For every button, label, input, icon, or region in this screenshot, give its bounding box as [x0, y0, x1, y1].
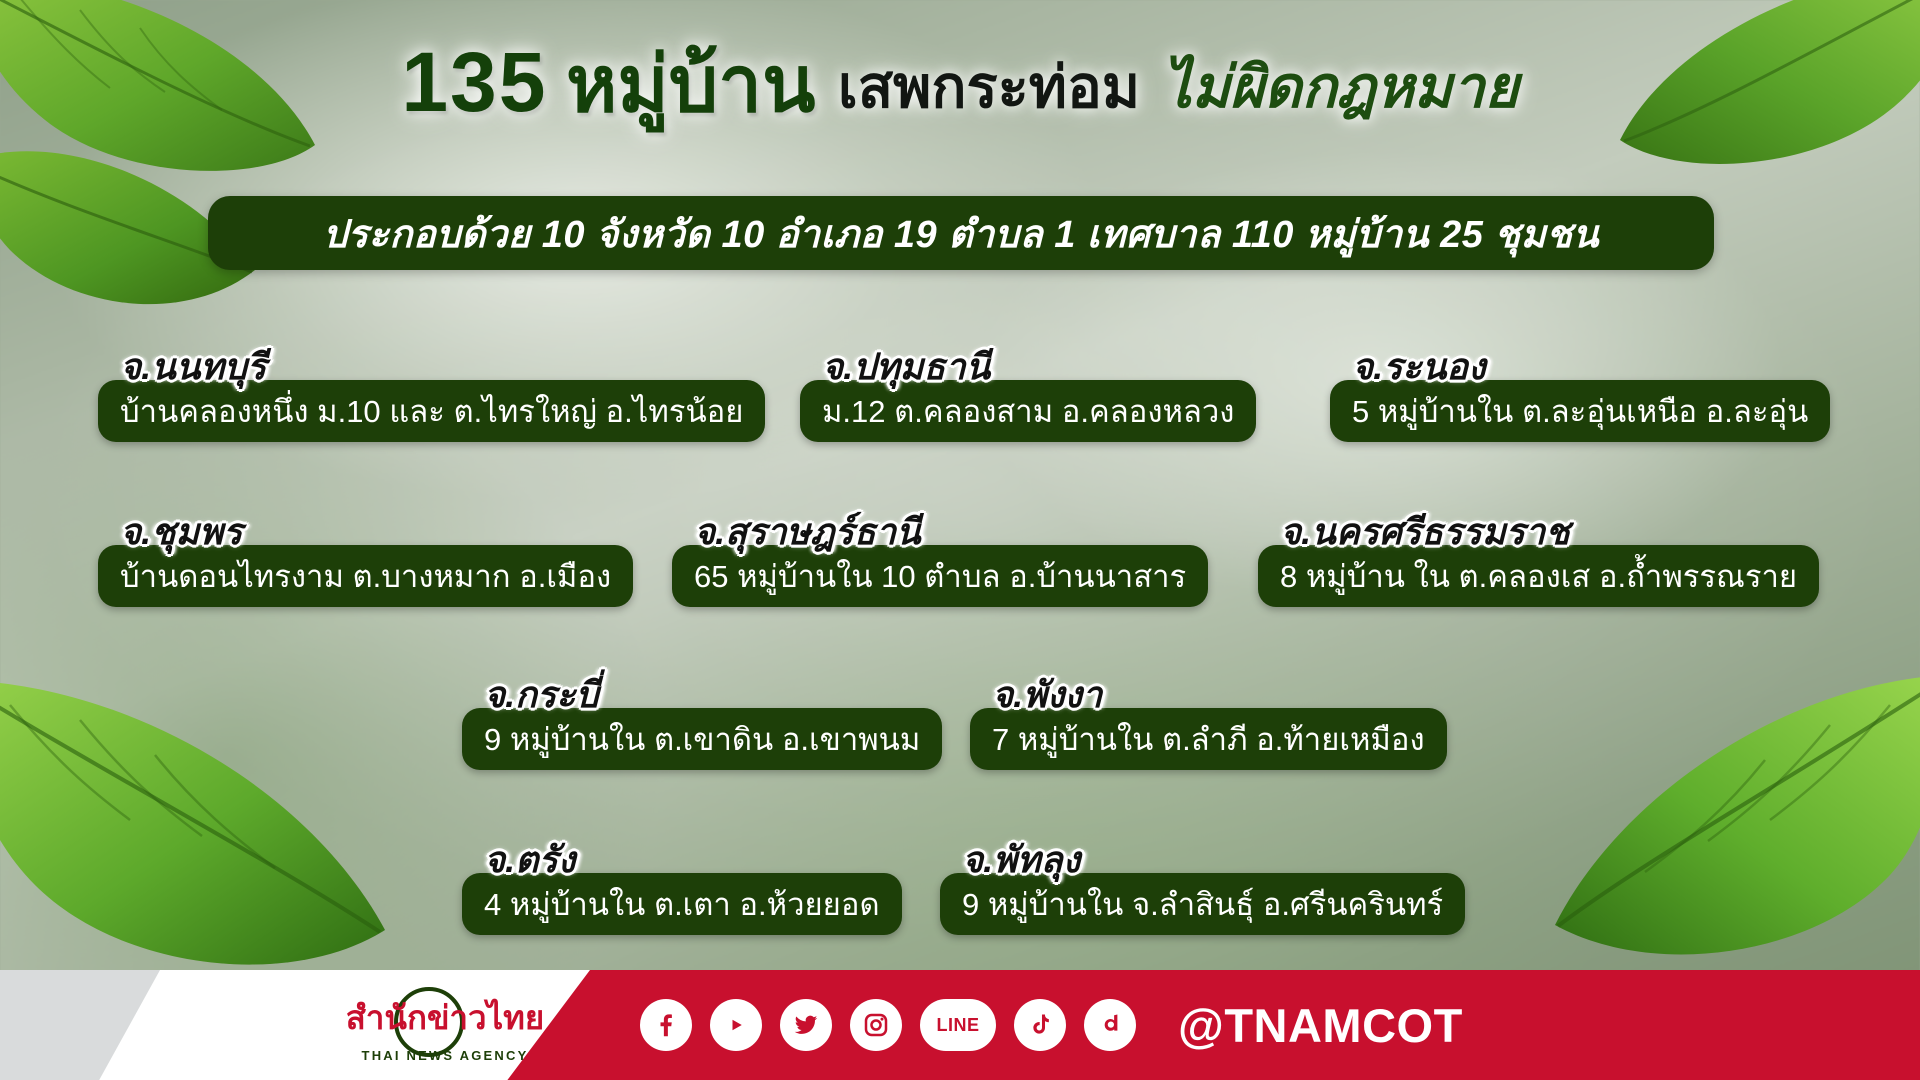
province-card-surat-thani[interactable]: จ.สุราษฎร์ธานี 65 หมู่บ้านใน 10 ตำบล อ.บ…: [672, 545, 1208, 607]
province-detail-body: 5 หมู่บ้านใน ต.ละอุ่นเหนือ อ.ละอุ่น: [1330, 380, 1830, 442]
province-name: จ.ปทุมธานี: [822, 348, 990, 386]
social-links: LINE @TNAMCOT: [640, 970, 1463, 1080]
dailymotion-icon[interactable]: [1084, 999, 1136, 1051]
province-detail: 4 หมู่บ้านใน ต.เตา อ.ห้วยยอด: [484, 889, 880, 920]
province-detail: บ้านคลองหนึ่ง ม.10 และ ต.ไทรใหญ่ อ.ไทรน้…: [120, 396, 743, 427]
province-card-pathum-thani[interactable]: จ.ปทุมธานี ม.12 ต.คลองสาม อ.คลองหลวง: [800, 380, 1256, 442]
province-name: จ.ตรัง: [484, 841, 575, 879]
province-name: จ.นครศรีธรรมราช: [1280, 513, 1570, 551]
province-detail: ม.12 ต.คลองสาม อ.คลองหลวง: [822, 396, 1234, 427]
line-icon[interactable]: LINE: [920, 999, 996, 1051]
line-label: LINE: [936, 1015, 979, 1036]
headline-count: 135: [401, 34, 547, 131]
province-detail-body: 4 หมู่บ้านใน ต.เตา อ.ห้วยยอด: [462, 873, 902, 935]
province-card-krabi[interactable]: จ.กระบี่ 9 หมู่บ้านใน ต.เขาดิน อ.เขาพนม: [462, 708, 942, 770]
province-detail: 9 หมู่บ้านใน จ.ลำสินธุ์ อ.ศรีนครินทร์: [962, 889, 1443, 920]
province-card-nakhon-si-thammarat[interactable]: จ.นครศรีธรรมราช 8 หมู่บ้าน ใน ต.คลองเส อ…: [1258, 545, 1819, 607]
logo-thai-text: สำนักข่าวไทย: [346, 991, 545, 1044]
province-card-phatthalung[interactable]: จ.พัทลุง 9 หมู่บ้านใน จ.ลำสินธุ์ อ.ศรีนค…: [940, 873, 1465, 935]
province-name: จ.นนทบุรี: [120, 348, 266, 386]
province-card-chumphon[interactable]: จ.ชุมพร บ้านดอนไทรงาม ต.บางหมาก อ.เมือง: [98, 545, 633, 607]
subtitle-text: ประกอบด้วย 10 จังหวัด 10 อำเภอ 19 ตำบล 1…: [323, 203, 1599, 264]
facebook-icon[interactable]: [640, 999, 692, 1051]
tiktok-icon[interactable]: [1014, 999, 1066, 1051]
province-detail: 7 หมู่บ้านใน ต.ลำภี อ.ท้ายเหมือง: [992, 724, 1425, 755]
province-detail-body: 7 หมู่บ้านใน ต.ลำภี อ.ท้ายเหมือง: [970, 708, 1447, 770]
province-detail-body: 9 หมู่บ้านใน ต.เขาดิน อ.เขาพนม: [462, 708, 942, 770]
headline-main: หมู่บ้าน: [566, 22, 815, 146]
province-card-trang[interactable]: จ.ตรัง 4 หมู่บ้านใน ต.เตา อ.ห้วยยอด: [462, 873, 902, 935]
province-name: จ.พัทลุง: [962, 841, 1080, 879]
province-detail-body: บ้านคลองหนึ่ง ม.10 และ ต.ไทรใหญ่ อ.ไทรน้…: [98, 380, 765, 442]
province-card-phang-nga[interactable]: จ.พังงา 7 หมู่บ้านใน ต.ลำภี อ.ท้ายเหมือง: [970, 708, 1447, 770]
province-detail-body: 65 หมู่บ้านใน 10 ตำบล อ.บ้านนาสาร: [672, 545, 1208, 607]
province-detail-body: ม.12 ต.คลองสาม อ.คลองหลวง: [800, 380, 1256, 442]
province-name: จ.พังงา: [992, 676, 1102, 714]
province-name: จ.ชุมพร: [120, 513, 242, 551]
province-detail: 65 หมู่บ้านใน 10 ตำบล อ.บ้านนาสาร: [694, 561, 1186, 592]
page-title: 135 หมู่บ้าน เสพกระท่อม ไม่ผิดกฎหมาย: [0, 22, 1920, 146]
thai-news-agency-logo[interactable]: สำนักข่าวไทย THAI NEWS AGENCY: [330, 980, 560, 1072]
subtitle-banner: ประกอบด้วย 10 จังหวัด 10 อำเภอ 19 ตำบล 1…: [208, 196, 1714, 270]
province-name: จ.กระบี่: [484, 676, 598, 714]
province-name: จ.ระนอง: [1352, 348, 1486, 386]
province-detail: 9 หมู่บ้านใน ต.เขาดิน อ.เขาพนม: [484, 724, 920, 755]
province-card-nonthaburi[interactable]: จ.นนทบุรี บ้านคลองหนึ่ง ม.10 และ ต.ไทรให…: [98, 380, 765, 442]
province-card-ranong[interactable]: จ.ระนอง 5 หมู่บ้านใน ต.ละอุ่นเหนือ อ.ละอ…: [1330, 380, 1830, 442]
logo-mark: สำนักข่าวไทย: [342, 990, 548, 1046]
province-detail: 8 หมู่บ้าน ใน ต.คลองเส อ.ถ้ำพรรณราย: [1280, 561, 1797, 592]
province-name: จ.สุราษฎร์ธานี: [694, 513, 921, 551]
province-detail-body: บ้านดอนไทรงาม ต.บางหมาก อ.เมือง: [98, 545, 633, 607]
province-detail-body: 8 หมู่บ้าน ใน ต.คลองเส อ.ถ้ำพรรณราย: [1258, 545, 1819, 607]
twitter-icon[interactable]: [780, 999, 832, 1051]
province-detail: บ้านดอนไทรงาม ต.บางหมาก อ.เมือง: [120, 561, 611, 592]
footer-bar: สำนักข่าวไทย THAI NEWS AGENCY LINE: [0, 970, 1920, 1080]
province-detail-body: 9 หมู่บ้านใน จ.ลำสินธุ์ อ.ศรีนครินทร์: [940, 873, 1465, 935]
youtube-icon[interactable]: [710, 999, 762, 1051]
social-handle: @TNAMCOT: [1178, 998, 1463, 1053]
headline-dark: เสพกระท่อม: [838, 40, 1140, 133]
province-detail: 5 หมู่บ้านใน ต.ละอุ่นเหนือ อ.ละอุ่น: [1352, 396, 1808, 427]
headline-italic: ไม่ผิดกฎหมาย: [1163, 40, 1519, 133]
instagram-icon[interactable]: [850, 999, 902, 1051]
